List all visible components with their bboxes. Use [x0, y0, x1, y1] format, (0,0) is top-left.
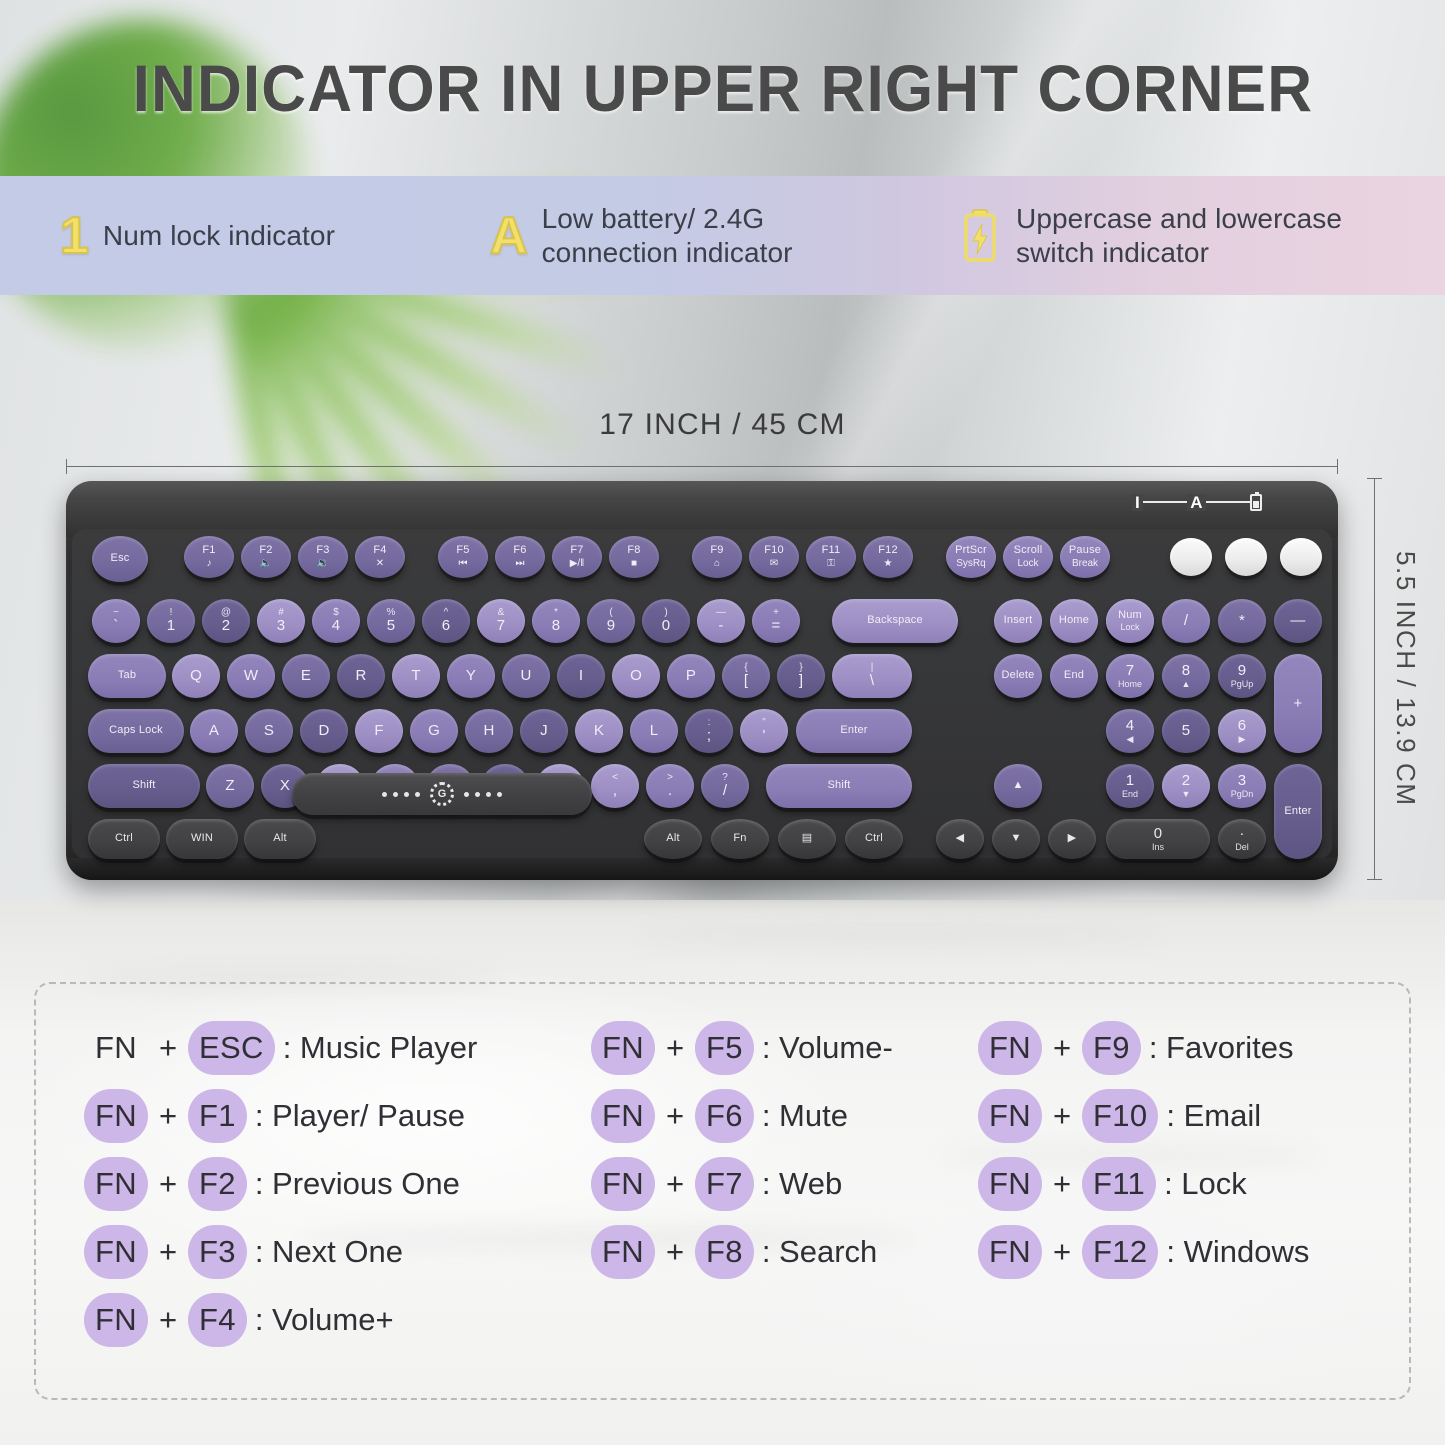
width-dimension-label: 17 INCH / 45 CM	[0, 408, 1445, 442]
key-label: ▼	[1010, 833, 1021, 845]
key-arrow-down[interactable]: ▼	[992, 819, 1040, 859]
key-symbol-icon: ✕	[376, 559, 384, 570]
legend-target-key: F7	[695, 1157, 754, 1211]
key-sub-label: ▶	[1239, 735, 1246, 744]
key-label: Enter	[840, 725, 867, 737]
key-insert[interactable]: Insert	[994, 599, 1042, 643]
key-label: F	[374, 723, 383, 739]
key-label: D	[318, 723, 329, 739]
key-f10[interactable]: F10✉	[749, 536, 799, 578]
legend-row: FN+F2: Previous One	[84, 1150, 584, 1218]
key-label: Ctrl	[115, 833, 133, 845]
key-f8[interactable]: F8■	[609, 536, 659, 578]
legend-target-key: ESC	[188, 1021, 275, 1075]
key-label: 5	[387, 618, 396, 634]
key-label: —	[1290, 613, 1305, 629]
legend-fn-key: FN	[591, 1157, 655, 1211]
key-o[interactable]: O	[612, 654, 660, 698]
legend-column-2: FN+F5: Volume-FN+F6: MuteFN+F7: WebFN+F8…	[591, 1014, 981, 1286]
key-label: P	[686, 668, 696, 684]
legend-action-label: : Music Player	[283, 1030, 478, 1066]
indicator-item-case: Uppercase and lowercaseswitch indicator	[960, 202, 1430, 268]
key-label: F2	[259, 545, 272, 557]
legend-row: FN+F8: Search	[591, 1218, 981, 1286]
key-label: F7	[570, 545, 583, 557]
legend-plus-sign: +	[1053, 1030, 1071, 1066]
keyboard-bottom-bezel	[66, 858, 1338, 880]
height-dimension-label-wrap: 5.5 INCH / 13.9 CM	[1374, 478, 1421, 880]
key-enter[interactable]: Enter	[796, 709, 912, 753]
key-punct-0[interactable]: :;	[685, 709, 733, 753]
key-label: G	[428, 723, 440, 739]
key-sub-label: PgDn	[1231, 790, 1254, 799]
legend-fn-key: FN	[978, 1225, 1042, 1279]
legend-action-label: : Windows	[1166, 1234, 1309, 1270]
key-label: ;	[707, 728, 711, 744]
key-label: F12	[878, 545, 898, 557]
key-sub-label: ▲	[1182, 680, 1191, 689]
key-label: +	[1294, 696, 1303, 712]
key-label: 5	[1182, 723, 1191, 739]
key-num-x[interactable]: ~`	[92, 599, 140, 643]
legend-fn-key: FN	[978, 1157, 1042, 1211]
key-label: Shift	[132, 780, 155, 792]
key-numpad-plus[interactable]: +	[1274, 654, 1322, 753]
key-num-0[interactable]: )0	[642, 599, 690, 643]
key-label: PrtScr	[955, 545, 987, 557]
legend-fn-key: FN	[978, 1089, 1042, 1143]
width-dimension-line	[66, 466, 1338, 467]
key-numpad-4[interactable]: 7Home	[1106, 654, 1154, 698]
key-num-3[interactable]: #3	[257, 599, 305, 643]
key-symbol-icon: ♪	[207, 559, 212, 570]
key-y[interactable]: Y	[447, 654, 495, 698]
legend-target-key: F6	[695, 1089, 754, 1143]
key-backspace[interactable]: Backspace	[832, 599, 958, 643]
legend-target-key: F3	[188, 1225, 247, 1279]
key-ctrl[interactable]: Ctrl	[845, 819, 903, 859]
key-label: Y	[466, 668, 476, 684]
legend-target-key: F9	[1082, 1021, 1141, 1075]
led-battery[interactable]	[1280, 538, 1322, 576]
key-label: I	[579, 668, 583, 684]
key-label: U	[520, 668, 531, 684]
key-top-label: +	[773, 608, 779, 619]
key-num-6[interactable]: ^6	[422, 599, 470, 643]
key-label: Home	[1059, 615, 1089, 627]
key-label: WIN	[191, 833, 213, 845]
key-ctrl[interactable]: Ctrl	[88, 819, 160, 859]
key-fn[interactable]: Fn	[711, 819, 769, 859]
key-label: Alt	[273, 833, 286, 845]
legend-fn-key: FN	[84, 1157, 148, 1211]
key-arrow-right[interactable]: ▶	[1048, 819, 1096, 859]
legend-plus-sign: +	[666, 1234, 684, 1270]
key-f7[interactable]: F7▶/‖	[552, 536, 602, 578]
key-s[interactable]: S	[245, 709, 293, 753]
led-indicator-markings: I A	[1132, 490, 1262, 514]
legend-fn-key: FN	[591, 1089, 655, 1143]
key-sub-label: Ins	[1152, 843, 1164, 852]
key-num-8[interactable]: *8	[532, 599, 580, 643]
key-l[interactable]: L	[630, 709, 678, 753]
legend-action-label: : Favorites	[1149, 1030, 1294, 1066]
led-mark-battery-icon	[1250, 494, 1262, 511]
key-numpad-9[interactable]: 5	[1162, 709, 1210, 753]
key-f1[interactable]: F1♪	[184, 536, 234, 578]
key-w[interactable]: W	[227, 654, 275, 698]
key-f5[interactable]: F5⏮	[438, 536, 488, 578]
key-sub-label: Del	[1235, 843, 1249, 852]
key-num-9[interactable]: (9	[587, 599, 635, 643]
key-numpad-enter[interactable]: Enter	[1274, 764, 1322, 859]
legend-fn-key: FN	[84, 1089, 148, 1143]
key-punct2-2[interactable]: ?/	[701, 764, 749, 808]
key-num-2[interactable]: @2	[202, 599, 250, 643]
key-label: Enter	[1284, 806, 1311, 818]
key-symbol-icon: Break	[1072, 559, 1098, 570]
key-label: ·	[1239, 826, 1244, 842]
key-f[interactable]: F	[355, 709, 403, 753]
key-label: Esc	[111, 553, 130, 565]
key-top-label: (	[609, 608, 612, 619]
key-label: F11	[822, 545, 841, 557]
key-prtscr[interactable]: PrtScrSysRq	[946, 536, 996, 578]
key-alt[interactable]: Alt	[644, 819, 702, 859]
legend-row: FN+F3: Next One	[84, 1218, 584, 1286]
key-numpad-10[interactable]: 6▶	[1218, 709, 1266, 753]
key-label: R	[355, 668, 366, 684]
key-f9[interactable]: F9⌂	[692, 536, 742, 578]
key-label: K	[594, 723, 604, 739]
key-top-label: }	[799, 663, 802, 674]
key-label: Pause	[1069, 545, 1101, 557]
key-top-label: <	[612, 773, 618, 784]
key-backslash[interactable]: |\	[832, 654, 912, 698]
key-numpad-6[interactable]: 9PgUp	[1218, 654, 1266, 698]
key-sub-label: ▼	[1182, 790, 1191, 799]
legend-action-label: : Web	[762, 1166, 842, 1202]
key-symbol-icon: ★	[884, 559, 893, 570]
key-label: E	[301, 668, 311, 684]
key-numpad-12[interactable]: 2▼	[1162, 764, 1210, 808]
key-menu-icon[interactable]: ▤	[778, 819, 836, 859]
key-punct2-1[interactable]: >.	[646, 764, 694, 808]
key-label: Num	[1118, 610, 1142, 622]
key-e[interactable]: E	[282, 654, 330, 698]
key-shift-left[interactable]: Shift	[88, 764, 200, 808]
key-label: Tab	[118, 670, 136, 682]
key-label: /	[723, 783, 727, 799]
key-a[interactable]: A	[190, 709, 238, 753]
key-label: F9	[710, 545, 723, 557]
legend-action-label: : Mute	[762, 1098, 848, 1134]
numlock-one-glyph: 1	[60, 210, 89, 262]
legend-plus-sign: +	[666, 1098, 684, 1134]
legend-action-label: : Search	[762, 1234, 877, 1270]
key-label: '	[762, 728, 765, 744]
key-sub-label: PgUp	[1231, 680, 1254, 689]
key-symbol-icon: ▶/‖	[570, 559, 585, 570]
key-top-label: )	[664, 608, 667, 619]
key-i[interactable]: I	[557, 654, 605, 698]
key-top-label: *	[554, 608, 558, 619]
legend-target-key: F8	[695, 1225, 754, 1279]
legend-target-key: F5	[695, 1021, 754, 1075]
key-f2[interactable]: F2🔈	[241, 536, 291, 578]
key-label: 1	[167, 618, 176, 634]
legend-column-1: FN+ESC: Music PlayerFN+F1: Player/ Pause…	[84, 1014, 584, 1354]
key-symbol-icon: ⏮	[459, 559, 468, 570]
key-num-5[interactable]: %5	[367, 599, 415, 643]
key-numpad-1[interactable]: /	[1162, 599, 1210, 643]
key-label: 2	[1182, 773, 1191, 789]
key-num-x[interactable]: +=	[752, 599, 800, 643]
legend-fn-key: FN	[84, 1293, 148, 1347]
legend-row: FN+F5: Volume-	[591, 1014, 981, 1082]
key-label: 4	[332, 618, 341, 634]
key-top-label: ^	[444, 608, 449, 619]
legend-action-label: : Previous One	[255, 1166, 460, 1202]
key-label: Alt	[666, 833, 679, 845]
key-symbol-icon: 🔈	[260, 559, 272, 570]
spacebar-brand-emblem: G	[382, 782, 502, 806]
key-esc[interactable]: Esc	[92, 536, 148, 582]
key-g[interactable]: G	[410, 709, 458, 753]
key-q[interactable]: Q	[172, 654, 220, 698]
key-label: 6	[442, 618, 451, 634]
title-band: INDICATOR IN UPPER RIGHT CORNER	[0, 0, 1445, 176]
key-win[interactable]: WIN	[166, 819, 238, 859]
legend-row: FN+F10: Email	[978, 1082, 1398, 1150]
legend-fn-key: FN	[84, 1021, 148, 1075]
key-symbol-icon: ⚿	[827, 559, 835, 570]
indicator-banner: 1 Num lock indicator A Low battery/ 2.4G…	[0, 176, 1445, 295]
key-label: Ctrl	[865, 833, 883, 845]
led-numlock[interactable]	[1170, 538, 1212, 576]
key-label: 2	[222, 618, 231, 634]
led-mark-numlock: I	[1132, 494, 1143, 511]
key-label: *	[1239, 613, 1245, 629]
key-delete[interactable]: Delete	[994, 654, 1042, 698]
legend-row: FN+F4: Volume+	[84, 1286, 584, 1354]
key-scroll[interactable]: ScrollLock	[1003, 536, 1053, 578]
legend-action-label: : Next One	[255, 1234, 403, 1270]
key-bracket-1[interactable]: }]	[777, 654, 825, 698]
legend-row: FN+F7: Web	[591, 1150, 981, 1218]
legend-target-key: F10	[1082, 1089, 1158, 1143]
key-label: 8	[552, 618, 561, 634]
key-pause[interactable]: PauseBreak	[1060, 536, 1110, 578]
key-symbol-icon: ✉	[770, 559, 778, 570]
key-label: 8	[1182, 663, 1191, 679]
key-u[interactable]: U	[502, 654, 550, 698]
legend-row: FN+F1: Player/ Pause	[84, 1082, 584, 1150]
key-numpad-3[interactable]: —	[1274, 599, 1322, 643]
indicator-item-numlock: 1 Num lock indicator	[60, 210, 480, 262]
legend-plus-sign: +	[1053, 1098, 1071, 1134]
key-num-4[interactable]: $4	[312, 599, 360, 643]
key-label: W	[244, 668, 258, 684]
key-num-1[interactable]: !1	[147, 599, 195, 643]
battery-bolt-icon	[960, 208, 1000, 264]
key-tab[interactable]: Tab	[88, 654, 166, 698]
key-label: X	[280, 778, 290, 794]
key-label: ▶	[1068, 833, 1077, 845]
key-numpad-0[interactable]: NumLock	[1106, 599, 1154, 643]
key-top-label: "	[762, 718, 766, 729]
legend-target-key: F12	[1082, 1225, 1158, 1279]
key-top-label: ~	[113, 608, 119, 619]
led-capslock[interactable]	[1225, 538, 1267, 576]
key-label: [	[744, 673, 748, 689]
key-sub-label: Lock	[1120, 623, 1139, 632]
key-num-x[interactable]: —-	[697, 599, 745, 643]
key-d[interactable]: D	[300, 709, 348, 753]
key-p[interactable]: P	[667, 654, 715, 698]
key-label: A	[209, 723, 219, 739]
indicator-label-numlock: Num lock indicator	[103, 219, 335, 252]
key-t[interactable]: T	[392, 654, 440, 698]
legend-plus-sign: +	[1053, 1234, 1071, 1270]
key-label: F8	[627, 545, 640, 557]
key-punct2-0[interactable]: <,	[591, 764, 639, 808]
brand-crest-icon: G	[430, 782, 454, 806]
key-k[interactable]: K	[575, 709, 623, 753]
legend-action-label: : Player/ Pause	[255, 1098, 465, 1134]
key-label: F4	[373, 545, 386, 557]
key-numpad-2[interactable]: *	[1218, 599, 1266, 643]
key-label: T	[411, 668, 420, 684]
key-bracket-0[interactable]: {[	[722, 654, 770, 698]
key-symbol-icon: ■	[631, 559, 637, 570]
legend-plus-sign: +	[159, 1302, 177, 1338]
key-numpad-dot[interactable]: ·Del	[1218, 819, 1266, 859]
key-label: 6	[1238, 718, 1247, 734]
key-label: \	[870, 673, 874, 689]
key-numpad-zero[interactable]: 0Ins	[1106, 819, 1210, 859]
key-label: 7	[1126, 663, 1135, 679]
key-f4[interactable]: F4✕	[355, 536, 405, 578]
key-label: ]	[799, 673, 803, 689]
key-label: Insert	[1004, 615, 1033, 627]
page-title: INDICATOR IN UPPER RIGHT CORNER	[132, 50, 1312, 126]
key-label: S	[264, 723, 274, 739]
legend-fn-key: FN	[978, 1021, 1042, 1075]
key-label: 9	[1238, 663, 1247, 679]
key-label: .	[668, 783, 672, 799]
legend-plus-sign: +	[159, 1234, 177, 1270]
key-symbol-icon: SysRq	[956, 559, 985, 570]
key-arrow-left[interactable]: ◀	[936, 819, 984, 859]
led-mark-capslock: A	[1187, 494, 1205, 511]
key-label: Backspace	[867, 615, 923, 627]
legend-action-label: : Volume+	[255, 1302, 394, 1338]
key-label: 4	[1126, 718, 1135, 734]
key-punct-1[interactable]: "'	[740, 709, 788, 753]
key-symbol-icon: Lock	[1017, 559, 1038, 570]
key-top-label: :	[708, 718, 711, 729]
key-label: ▤	[802, 833, 813, 845]
key-top-label: |	[871, 663, 874, 674]
key-f3[interactable]: F3🔉	[298, 536, 348, 578]
key-label: 0	[662, 618, 671, 634]
legend-columns: FN+ESC: Music PlayerFN+F1: Player/ Pause…	[36, 984, 1409, 1398]
key-z[interactable]: Z	[206, 764, 254, 808]
key-f12[interactable]: F12★	[863, 536, 913, 578]
legend-plus-sign: +	[159, 1166, 177, 1202]
key-label: F1	[202, 545, 215, 557]
key-home[interactable]: Home	[1050, 599, 1098, 643]
legend-column-3: FN+F9: FavoritesFN+F10: EmailFN+F11: Loc…	[978, 1014, 1398, 1286]
legend-plus-sign: +	[666, 1166, 684, 1202]
key-label: O	[630, 668, 642, 684]
key-label: 3	[277, 618, 286, 634]
key-arrow-up[interactable]: ▲	[994, 764, 1042, 808]
legend-action-label: : Email	[1166, 1098, 1261, 1134]
key-label: 7	[497, 618, 506, 634]
key-numpad-11[interactable]: 1End	[1106, 764, 1154, 808]
key-sub-label: ◀	[1127, 735, 1134, 744]
legend-row: FN+F6: Mute	[591, 1082, 981, 1150]
key-sub-label: End	[1122, 790, 1138, 799]
key-label: F10	[764, 545, 784, 557]
key-top-label: &	[498, 608, 505, 619]
key-f6[interactable]: F6⏭	[495, 536, 545, 578]
key-label: Caps Lock	[109, 725, 163, 737]
key-f11[interactable]: F11⚿	[806, 536, 856, 578]
key-shift-right[interactable]: Shift	[766, 764, 912, 808]
indicator-label-case: Uppercase and lowercaseswitch indicator	[1016, 202, 1342, 268]
indicator-item-battery: A Low battery/ 2.4Gconnection indicator	[490, 202, 960, 268]
key-h[interactable]: H	[465, 709, 513, 753]
key-top-label: {	[744, 663, 747, 674]
legend-row: FN+F9: Favorites	[978, 1014, 1398, 1082]
legend-plus-sign: +	[159, 1098, 177, 1134]
key-numpad-5[interactable]: 8▲	[1162, 654, 1210, 698]
key-label: 9	[607, 618, 616, 634]
legend-fn-key: FN	[591, 1021, 655, 1075]
legend-target-key: F1	[188, 1089, 247, 1143]
key-capslock[interactable]: Caps Lock	[88, 709, 184, 753]
key-top-label: #	[278, 608, 284, 619]
key-j[interactable]: J	[520, 709, 568, 753]
key-top-label: !	[170, 608, 173, 619]
key-label: Z	[225, 778, 234, 794]
height-dimension-label: 5.5 INCH / 13.9 CM	[1390, 551, 1421, 807]
key-label: F3	[316, 545, 329, 557]
key-label: 1	[1126, 773, 1135, 789]
capslock-a-glyph: A	[490, 210, 528, 262]
legend-plus-sign: +	[666, 1030, 684, 1066]
key-numpad-13[interactable]: 3PgDn	[1218, 764, 1266, 808]
key-symbol-icon: ⌂	[714, 559, 720, 570]
key-alt[interactable]: Alt	[244, 819, 316, 859]
key-spacebar[interactable]: G	[292, 773, 592, 815]
legend-row: FN+F12: Windows	[978, 1218, 1398, 1286]
key-label: ◀	[956, 833, 965, 845]
key-num-7[interactable]: &7	[477, 599, 525, 643]
legend-action-label: : Lock	[1164, 1166, 1247, 1202]
key-r[interactable]: R	[337, 654, 385, 698]
legend-target-key: F11	[1082, 1157, 1156, 1211]
indicator-label-battery: Low battery/ 2.4Gconnection indicator	[542, 202, 793, 268]
legend-target-key: F2	[188, 1157, 247, 1211]
key-top-label: >	[667, 773, 673, 784]
key-numpad-8[interactable]: 4◀	[1106, 709, 1154, 753]
key-end[interactable]: End	[1050, 654, 1098, 698]
key-symbol-icon: 🔉	[317, 559, 329, 570]
